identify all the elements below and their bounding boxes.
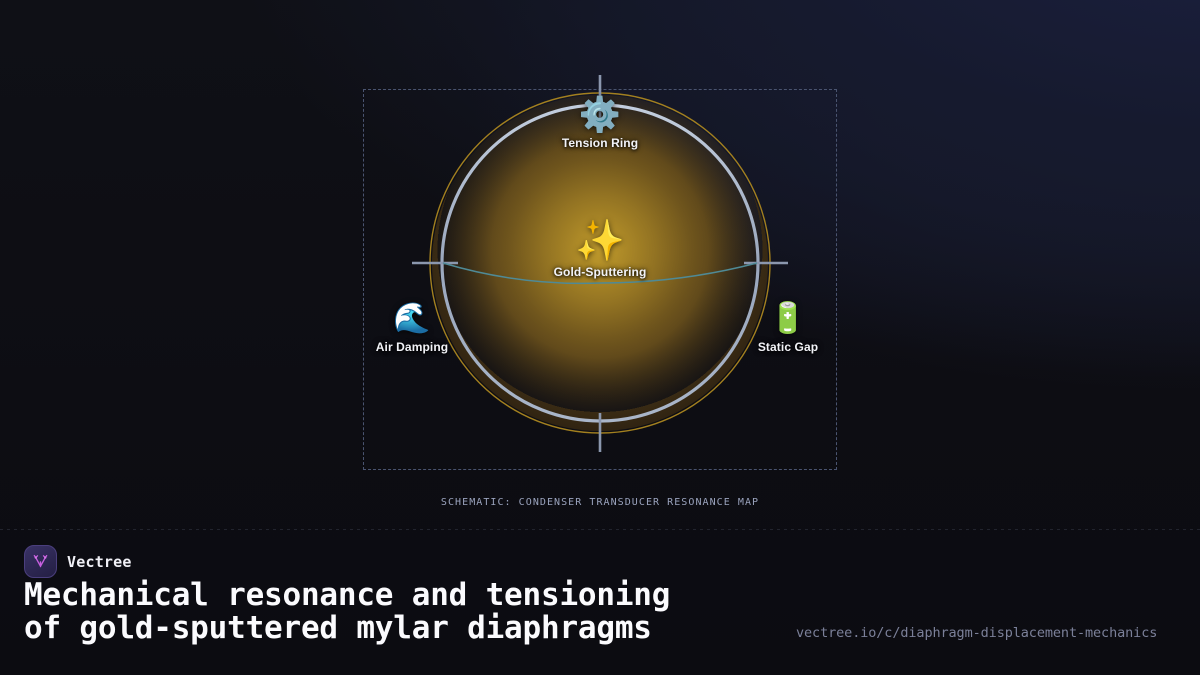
footer-divider: [0, 529, 1200, 530]
vectree-glyph: [31, 552, 50, 571]
node-label-static-gap: Static Gap: [758, 340, 818, 354]
water-wave-icon: 🌊: [393, 300, 430, 338]
brand-name: Vectree: [67, 553, 132, 571]
sparkles-icon: ✨: [575, 219, 625, 263]
node-gold-sputtering[interactable]: ✨ Gold-Sputtering: [520, 219, 680, 279]
schematic-caption: SCHEMATIC: CONDENSER TRANSDUCER RESONANC…: [0, 497, 1200, 508]
gear-icon: ⚙️: [579, 96, 621, 134]
footer: Vectree Mechanical resonance and tension…: [0, 534, 1200, 675]
node-label-tension-ring: Tension Ring: [562, 136, 638, 150]
page-title: Mechanical resonance and tensioning of g…: [24, 579, 670, 645]
node-label-gold-sputtering: Gold-Sputtering: [554, 265, 647, 279]
node-static-gap[interactable]: 🔋 Static Gap: [708, 300, 868, 354]
brand[interactable]: Vectree: [24, 545, 132, 578]
node-tension-ring[interactable]: ⚙️ Tension Ring: [520, 96, 680, 150]
node-air-damping[interactable]: 🌊 Air Damping: [332, 300, 492, 354]
source-url: vectree.io/c/diaphragm-displacement-mech…: [796, 625, 1157, 641]
vectree-logo-icon: [24, 545, 57, 578]
node-label-air-damping: Air Damping: [376, 340, 448, 354]
battery-icon: 🔋: [769, 300, 806, 338]
